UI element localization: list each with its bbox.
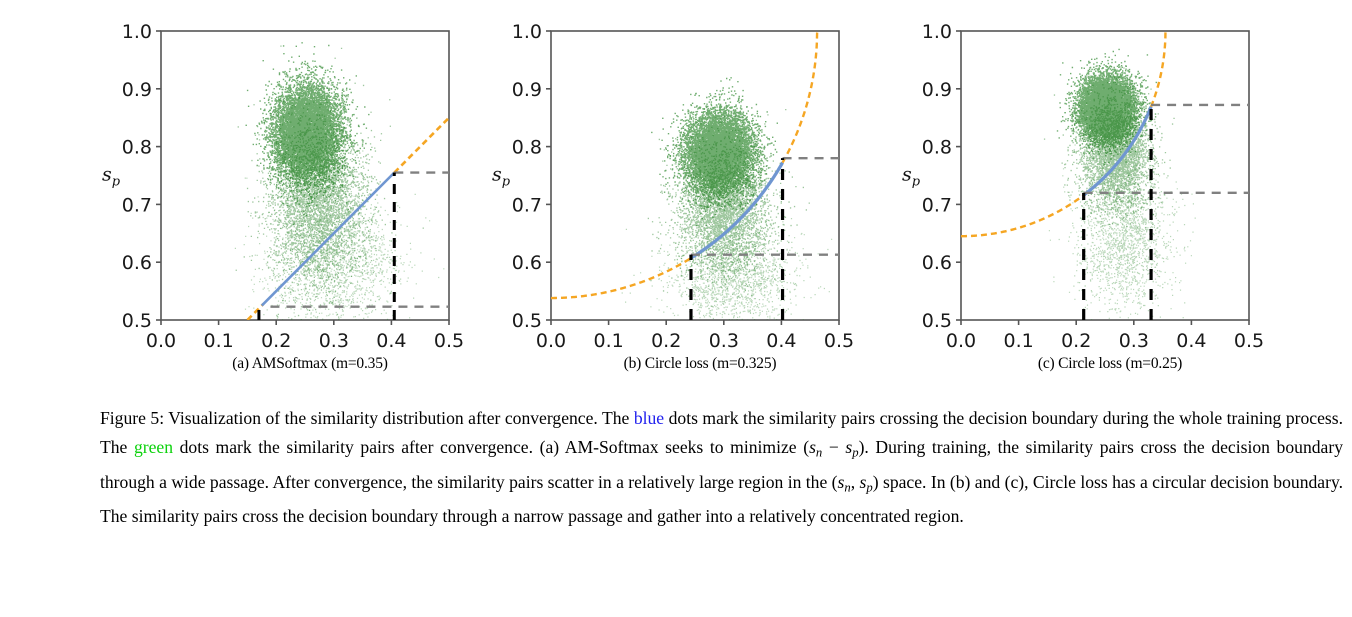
y-tick-label: 0.7 [122,194,152,216]
x-tick-label: 0.1 [203,330,233,352]
x-tick-label: 0.0 [536,330,566,352]
y-tick-label: 0.8 [512,137,542,159]
y-tick-label: 0.6 [512,252,542,274]
x-tick-label: 0.2 [1061,330,1091,352]
y-tick-label: 0.9 [122,79,152,101]
x-tick-label: 0.2 [261,330,291,352]
y-axis-label: sp [492,164,511,190]
y-tick-label: 1.0 [122,21,152,43]
y-tick-label: 0.7 [512,194,542,216]
y-tick-label: 0.6 [922,252,952,274]
subcaption-a: (a) AMSoftmax (m=0.35) [100,355,520,373]
scatter-plot-b: 0.00.10.20.30.40.50.50.60.70.80.91.0snsp [490,0,910,355]
y-tick-label: 0.7 [922,194,952,216]
x-tick-label: 0.4 [376,330,406,352]
y-tick-label: 0.9 [512,79,542,101]
subcaption-b: (b) Circle loss (m=0.325) [490,355,910,373]
y-tick-label: 0.5 [922,310,952,332]
x-tick-label: 0.3 [709,330,739,352]
math-sn: sn [838,472,851,492]
math-sp: sp [860,472,873,492]
x-tick-label: 0.2 [651,330,681,352]
caption-text: Figure 5: Visualization of the similarit… [100,408,634,428]
y-tick-label: 1.0 [922,21,952,43]
caption-text: dots mark the similarity pairs after con… [100,437,1343,526]
x-tick-label: 0.0 [146,330,176,352]
chart-panel-b: 0.00.10.20.30.40.50.50.60.70.80.91.0snsp… [490,0,910,395]
x-tick-label: 0.5 [1234,330,1264,352]
y-axis-label: sp [102,164,121,190]
x-tick-label: 0.1 [1003,330,1033,352]
y-axis-label: sp [902,164,921,190]
x-tick-label: 0.3 [1119,330,1149,352]
math-sn: sn [809,437,822,457]
caption-word-green: green [134,437,173,457]
caption-word-blue: blue [634,408,664,428]
y-tick-label: 0.8 [922,137,952,159]
math-sp: sp [845,437,858,457]
chart-panel-a: 0.00.10.20.30.40.50.50.60.70.80.91.0snsp… [100,0,520,395]
y-tick-label: 0.9 [922,79,952,101]
panel-row: 0.00.10.20.30.40.50.50.60.70.80.91.0snsp… [0,0,1352,395]
x-tick-label: 0.5 [434,330,464,352]
x-tick-label: 0.0 [946,330,976,352]
x-tick-label: 0.1 [593,330,623,352]
scatter-plot-c: 0.00.10.20.30.40.50.50.60.70.80.91.0snsp [900,0,1320,355]
y-tick-label: 0.6 [122,252,152,274]
y-tick-label: 1.0 [512,21,542,43]
y-tick-label: 0.5 [122,310,152,332]
x-tick-label: 0.3 [319,330,349,352]
y-tick-label: 0.5 [512,310,542,332]
x-tick-label: 0.5 [824,330,854,352]
subcaption-c: (c) Circle loss (m=0.25) [900,355,1320,373]
x-tick-label: 0.4 [1176,330,1206,352]
figure-5: 0.00.10.20.30.40.50.50.60.70.80.91.0snsp… [0,0,1352,617]
scatter-plot-a: 0.00.10.20.30.40.50.50.60.70.80.91.0snsp [100,0,520,355]
chart-panel-c: 0.00.10.20.30.40.50.50.60.70.80.91.0snsp… [900,0,1320,395]
y-tick-label: 0.8 [122,137,152,159]
x-tick-label: 0.4 [766,330,796,352]
figure-caption: Figure 5: Visualization of the similarit… [100,404,1343,531]
